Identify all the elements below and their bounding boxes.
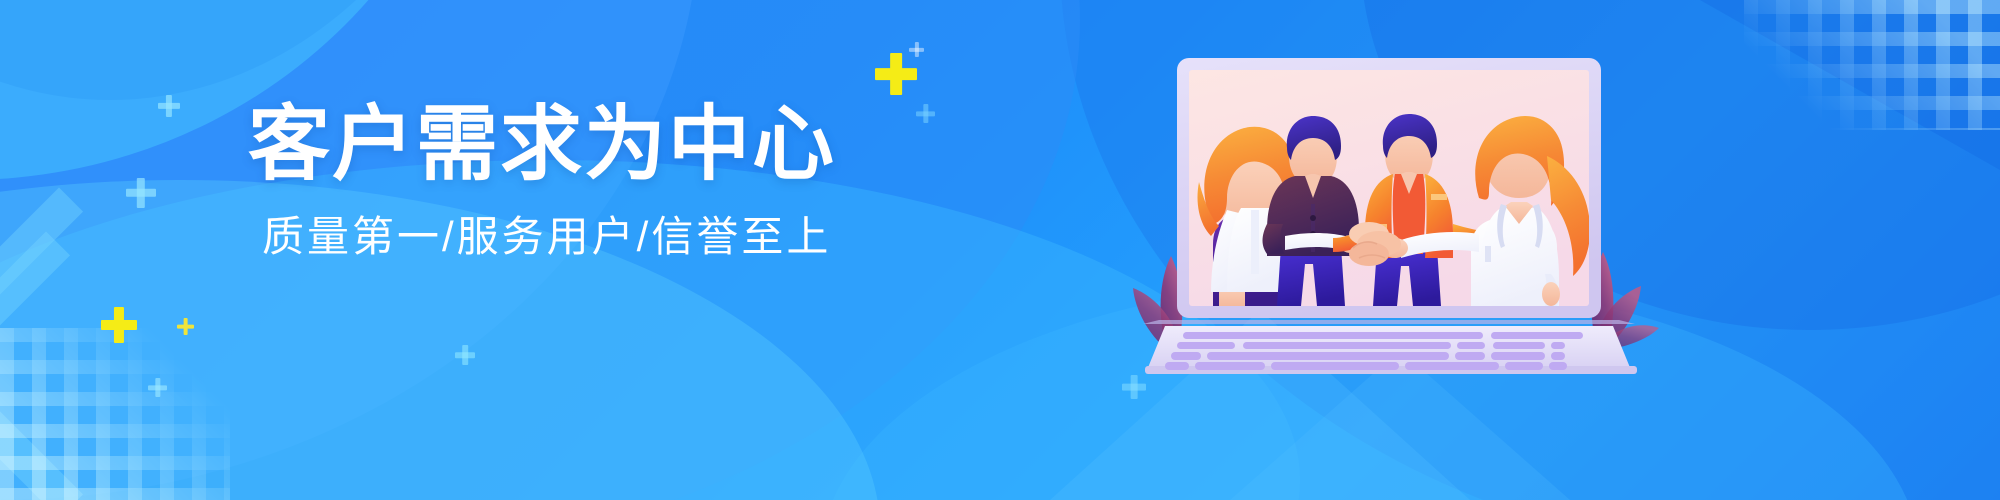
bg-blob-deep-top	[0, 0, 520, 100]
plus-yellow-small-icon	[177, 318, 194, 335]
grid-top-right-icon	[1744, 0, 2000, 130]
bg-chevron-inner	[0, 231, 233, 500]
laptop-base	[1143, 320, 1637, 374]
plus-yellow-medium-icon	[101, 307, 137, 343]
banner-headline: 客户需求为中心	[248, 104, 808, 186]
bg-chevron-outer	[0, 188, 224, 500]
plus-cyan-small-icon	[158, 95, 180, 117]
plus-cyan-center-icon	[455, 345, 475, 365]
plus-cyan-right-icon	[1122, 375, 1146, 399]
banner-copy: 客户需求为中心 质量第一/服务用户/信誉至上	[248, 104, 808, 258]
promo-banner: 客户需求为中心 质量第一/服务用户/信誉至上	[0, 0, 2000, 500]
grid-bottom-left-icon	[0, 328, 230, 500]
plus-yellow-large-icon	[875, 53, 917, 95]
plus-cyan-medium-icon	[126, 178, 156, 208]
screen-scene-teamwork	[1198, 114, 1591, 308]
plus-cyan-lower-icon	[148, 378, 167, 397]
bg-triangle-top-right	[1700, 0, 2000, 170]
plus-cyan-upper-right-icon	[916, 104, 935, 123]
laptop-teamwork-illustration	[1155, 48, 1635, 378]
banner-subheadline: 质量第一/服务用户/信誉至上	[262, 216, 808, 258]
plus-white-tiny-icon	[909, 42, 924, 57]
